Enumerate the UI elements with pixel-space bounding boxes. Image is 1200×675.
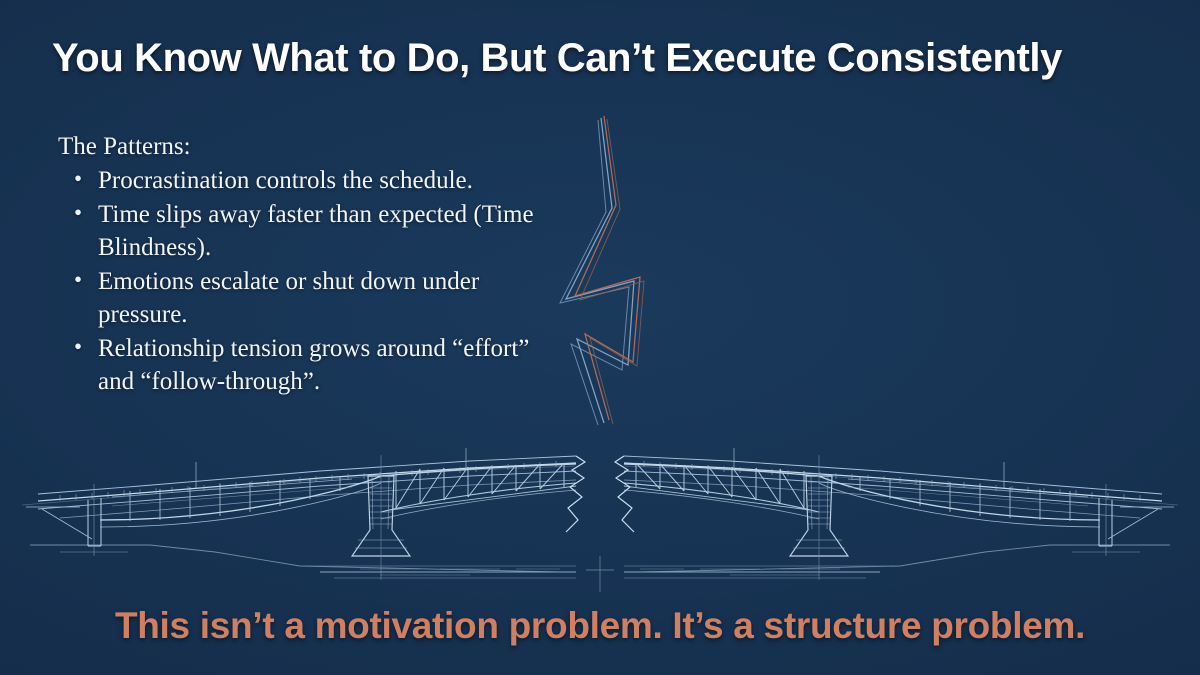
centre-construction-mark xyxy=(586,556,614,592)
patterns-heading: The Patterns: xyxy=(58,132,558,163)
crack-line-blue-2 xyxy=(560,120,629,425)
list-item: Time slips away faster than expected (Ti… xyxy=(58,199,558,264)
bridge-right-span xyxy=(615,448,1178,580)
bridge-left-span xyxy=(22,448,585,580)
patterns-block: The Patterns: Procrastination controls t… xyxy=(58,132,558,398)
closing-tagline: This isn’t a motivation problem. It’s a … xyxy=(0,605,1200,647)
crack-line-rust xyxy=(575,116,640,420)
list-item: Relationship tension grows around “effor… xyxy=(58,333,558,398)
crack-line-blue xyxy=(566,118,634,423)
slide-canvas: You Know What to Do, But Can’t Execute C… xyxy=(0,0,1200,675)
list-item: Emotions escalate or shut down under pre… xyxy=(58,266,558,331)
crack-line-rust-2 xyxy=(580,119,644,424)
patterns-list: Procrastination controls the schedule. T… xyxy=(58,165,558,399)
list-item: Procrastination controls the schedule. xyxy=(58,165,558,198)
page-title: You Know What to Do, But Can’t Execute C… xyxy=(52,36,1162,81)
